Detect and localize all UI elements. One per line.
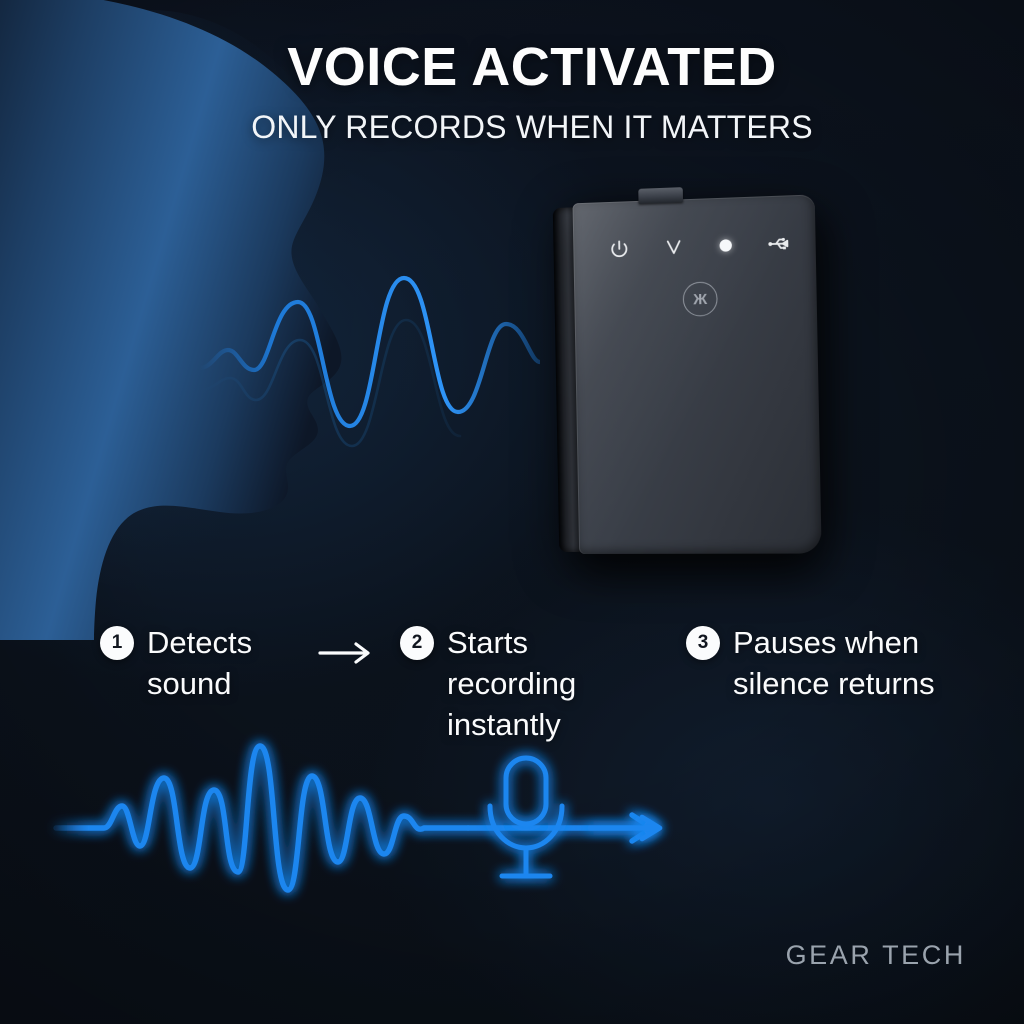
step-number-badge: 1 xyxy=(100,626,134,660)
mode-v-icon[interactable] xyxy=(664,236,685,259)
power-icon[interactable] xyxy=(609,238,629,261)
page-title: VOICE ACTIVATED xyxy=(0,40,1024,95)
step-number-badge: 2 xyxy=(400,626,434,660)
usb-icon[interactable] xyxy=(767,232,793,255)
flow-arrow-2 xyxy=(590,817,660,839)
microphone-icon xyxy=(490,758,562,876)
step-arrow-icon xyxy=(318,640,376,671)
step-label: Detects sound xyxy=(147,622,300,704)
voice-sound-wave xyxy=(200,250,540,480)
step-item-2: 2 Starts recording instantly xyxy=(400,622,610,746)
voice-recorder-device[interactable]: Ж xyxy=(548,190,848,580)
step-label: Starts recording instantly xyxy=(447,622,610,746)
brand-wordmark: GEAR TECH xyxy=(786,940,966,971)
device-front-face: Ж xyxy=(573,194,822,554)
step-item-3: 3 Pauses when silence returns xyxy=(686,622,986,704)
led-indicator xyxy=(719,239,732,252)
step-label: Pauses when silence returns xyxy=(733,622,986,704)
top-clip xyxy=(638,187,683,204)
step-number-badge: 3 xyxy=(686,626,720,660)
step-item-1: 1 Detects sound xyxy=(100,622,300,704)
poster-canvas: VOICE ACTIVATED ONLY RECORDS WHEN IT MAT… xyxy=(0,0,1024,1024)
header-block: VOICE ACTIVATED ONLY RECORDS WHEN IT MAT… xyxy=(0,40,1024,146)
device-indicator-row xyxy=(609,228,793,264)
device-body-group: Ж xyxy=(553,194,822,554)
device-logo-badge: Ж xyxy=(683,281,718,316)
audio-flow-diagram xyxy=(0,720,1024,920)
steps-row: 1 Detects sound 2 Starts recording insta… xyxy=(0,608,1024,748)
page-subtitle: ONLY RECORDS WHEN IT MATTERS xyxy=(0,109,1024,146)
